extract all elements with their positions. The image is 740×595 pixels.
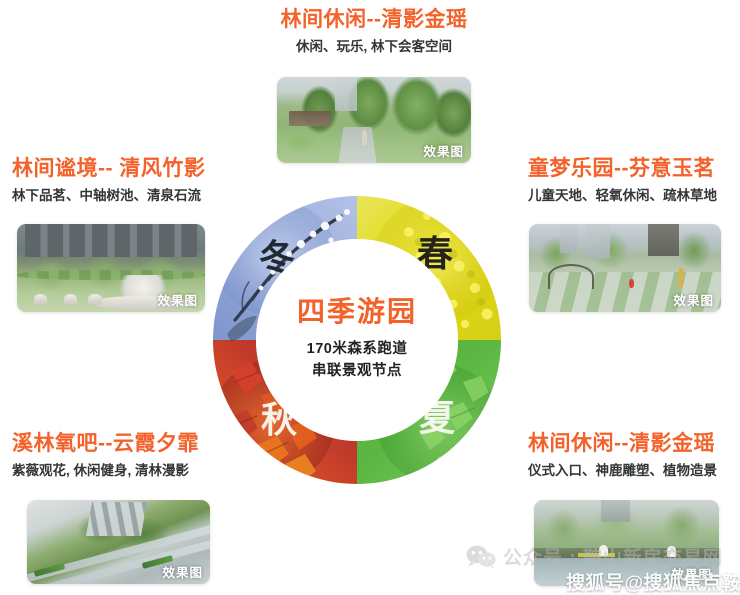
node-top: 林间休闲--清影金瑶 休闲、玩乐, 林下会客空间 [268,8,480,55]
node-left-bottom-subtitle: 紫薇观花, 休闲健身, 清林漫影 [12,463,240,479]
node-top-image[interactable]: 效果图 [277,77,471,163]
node-left-bottom: 溪林氧吧--云霞夕霏 紫薇观花, 休闲健身, 清林漫影 [12,432,240,479]
node-right-bottom-subtitle: 仪式入口、神鹿雕塑、植物造景 [528,463,738,479]
node-top-title: 林间休闲--清影金瑶 [268,8,480,32]
center-line-1: 170米森系跑道 [307,339,408,360]
donut-center-hub: 四季游园 170米森系跑道 串联景观节点 [256,239,458,441]
node-right-top-image-caption: 效果图 [673,290,714,309]
node-right-top: 童梦乐园--芬意玉茗 儿童天地、轻氧休闲、疏林草地 [528,157,738,204]
node-right-top-subtitle: 儿童天地、轻氧休闲、疏林草地 [528,188,738,204]
node-left-top-image-caption: 效果图 [157,290,198,309]
node-left-top: 林间谧境-- 清风竹影 林下品茗、中轴树池、清泉石流 [12,157,240,204]
node-left-bottom-image[interactable]: 效果图 [27,500,210,584]
four-seasons-donut: 冬 春 夏 秋 四季游园 170米森系跑道 串联景观节点 [213,196,501,484]
node-right-bottom: 林间休闲--清影金瑶 仪式入口、神鹿雕塑、植物造景 [528,432,738,479]
node-left-bottom-title: 溪林氧吧--云霞夕霏 [12,432,240,456]
center-title: 四季游园 [297,298,417,326]
node-top-image-caption: 效果图 [423,141,464,160]
node-right-top-image[interactable]: 效果图 [529,224,721,312]
wechat-icon [466,545,496,569]
node-left-top-image[interactable]: 效果图 [17,224,205,312]
node-right-top-title: 童梦乐园--芬意玉茗 [528,157,738,181]
node-right-bottom-image[interactable]: 效果图 [534,500,719,586]
center-line-2: 串联景观节点 [312,361,402,382]
poster-canvas: 林间休闲--清影金瑶 休闲、玩乐, 林下会客空间 效果图 林间谧境-- 清风竹影… [0,0,740,595]
node-top-subtitle: 休闲、玩乐, 林下会客空间 [268,39,480,55]
node-right-bottom-title: 林间休闲--清影金瑶 [528,432,738,456]
node-right-bottom-image-caption: 效果图 [671,564,712,583]
node-left-top-subtitle: 林下品茗、中轴树池、清泉石流 [12,188,240,204]
node-left-bottom-image-caption: 效果图 [162,562,203,581]
node-left-top-title: 林间谧境-- 清风竹影 [12,157,240,181]
